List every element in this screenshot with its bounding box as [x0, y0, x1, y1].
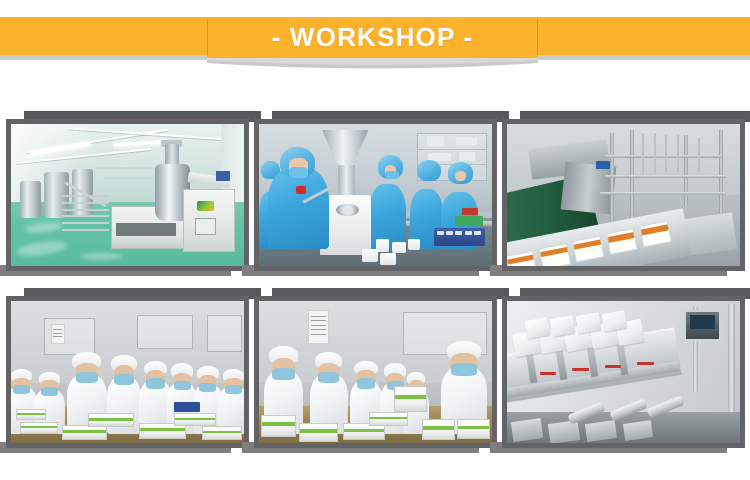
machine-opening [116, 223, 177, 236]
product-carton [16, 409, 46, 420]
workshop-page: - WORKSHOP - [0, 0, 750, 480]
product-carton [394, 386, 427, 412]
product-carton [202, 426, 242, 440]
red-pusher-pin [605, 365, 621, 368]
access-stairs [62, 192, 109, 240]
blue-component-tray [434, 228, 485, 246]
ribbon-shadow [207, 58, 538, 74]
blue-junction-box [216, 171, 230, 181]
blue-clamp [596, 161, 610, 170]
photo-cleanroom-filling-line [259, 124, 492, 266]
photo-emulsifying-and-mixing-room [11, 124, 244, 266]
worker-hood [417, 160, 440, 181]
tile-frame-body [6, 119, 249, 271]
pipe [95, 167, 165, 169]
gallery-tile-automatic-cartoning-machine[interactable] [502, 111, 745, 276]
wall-window [137, 315, 193, 349]
hmi-control-panel[interactable] [684, 310, 721, 341]
gallery-tile-emulsifying-and-mixing-room[interactable] [6, 111, 249, 276]
photo-packet-feeding-cartoner [507, 301, 740, 443]
worker-face [455, 171, 467, 181]
red-pusher-pin [572, 368, 588, 371]
wall-window [207, 315, 242, 352]
face-mask [13, 385, 30, 394]
worker-white-uniform [218, 369, 244, 434]
gallery-tile-cleanroom-filling-line[interactable] [254, 111, 497, 276]
product-carton [457, 419, 490, 439]
control-panel [195, 218, 216, 235]
tile-frame-body [502, 296, 745, 448]
face-mask [318, 372, 339, 384]
mixing-tank [20, 181, 41, 218]
vertical-mechanism [561, 161, 617, 214]
red-pusher-pin [637, 362, 653, 365]
machine-upright [630, 130, 634, 218]
hmi-screen [690, 315, 715, 330]
wall-notice [51, 324, 65, 344]
page-banner: - WORKSHOP - [0, 0, 750, 105]
page-title: - WORKSHOP - [207, 17, 538, 58]
guide-rod [698, 138, 700, 172]
tile-frame-body [502, 119, 745, 271]
tile-frame-body [254, 296, 497, 448]
face-mask [146, 378, 164, 388]
machine-upright [610, 133, 614, 227]
red-pusher-pin [540, 372, 556, 375]
face-mask [41, 387, 58, 396]
machine-crossbar [605, 155, 722, 158]
guide-rod [677, 135, 679, 172]
guide-rod [665, 135, 667, 172]
product-carton [20, 422, 57, 435]
gallery-tile-packet-feeding-cartoner[interactable] [502, 288, 745, 453]
wall-notice [308, 310, 329, 344]
face-mask [385, 171, 399, 180]
worker-blue-suit [268, 167, 329, 249]
workshop-photo-grid [0, 105, 750, 480]
product-carton [299, 423, 339, 441]
face-mask [289, 167, 308, 178]
product-jar [380, 253, 396, 264]
green-tray [455, 216, 483, 226]
product-carton [261, 415, 296, 438]
red-tray [462, 208, 478, 215]
product-carton [422, 419, 455, 440]
product-carton [88, 413, 135, 427]
face-mask [357, 378, 375, 388]
infeed-flap [585, 420, 618, 442]
worker-white-coat [310, 352, 347, 434]
face-mask [76, 372, 98, 384]
face-mask [174, 381, 191, 391]
gallery-tile-secondary-packaging-station[interactable] [254, 288, 497, 453]
face-mask [451, 363, 477, 376]
machine-crossbar [600, 192, 726, 195]
guide-rod [654, 133, 656, 176]
face-mask [199, 383, 216, 393]
lever-handle [296, 186, 305, 193]
tile-frame-body [6, 296, 249, 448]
hopper-stem [338, 165, 354, 196]
face-mask [114, 374, 134, 385]
pipe [104, 177, 155, 179]
guide-rod [642, 133, 644, 176]
product-jar [408, 239, 420, 250]
product-carton [174, 413, 216, 426]
gallery-tile-manual-packing-line[interactable] [6, 288, 249, 453]
blue-bin [174, 402, 200, 412]
product-carton [369, 412, 409, 426]
product-jar [392, 242, 406, 253]
machine-upright [684, 135, 688, 206]
photo-secondary-packaging-station [259, 301, 492, 443]
face-mask [272, 368, 294, 380]
brand-logo [197, 201, 213, 211]
product-jar [362, 249, 378, 262]
infeed-flap [548, 420, 581, 443]
photo-manual-packing-line [11, 301, 244, 443]
tile-frame-body [254, 119, 497, 271]
machine-crossbar [605, 175, 726, 178]
photo-automatic-cartoning-machine [507, 124, 740, 266]
infeed-flap [622, 420, 652, 441]
face-mask [225, 385, 242, 394]
